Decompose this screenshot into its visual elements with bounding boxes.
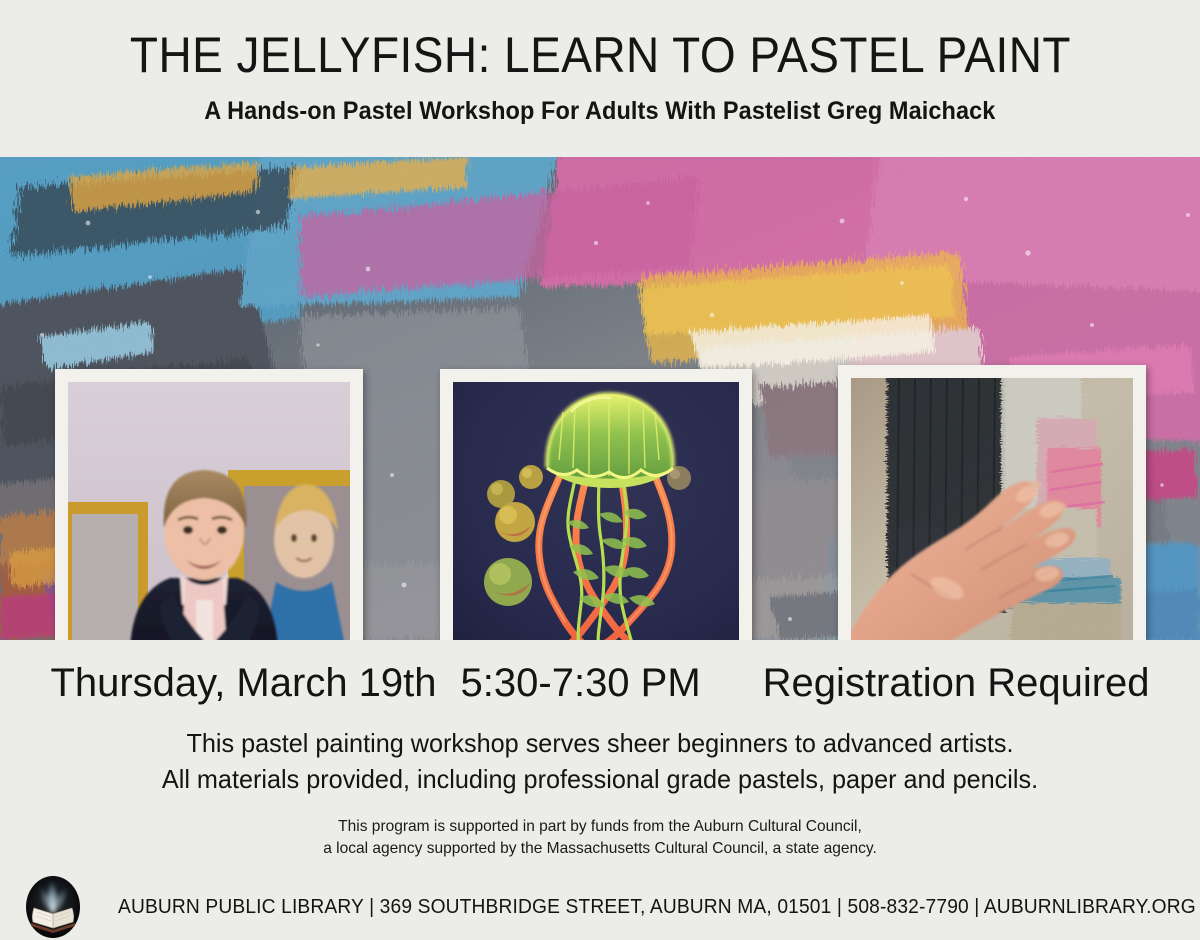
event-dateline: Thursday, March 19th5:30-7:30 PMRegistra… [0, 659, 1200, 707]
hand-blending-photo [851, 378, 1133, 640]
page-subtitle: A Hands-on Pastel Workshop For Adults Wi… [204, 96, 995, 126]
description-line-1: This pastel painting workshop serves she… [18, 725, 1182, 761]
photo-frame-hand [838, 365, 1146, 640]
instructor-portrait-photo [68, 382, 350, 640]
photo-frame-instructor [55, 369, 363, 640]
header: THE JELLYFISH: LEARN TO PASTEL PAINT A H… [0, 0, 1200, 157]
photo-frame-jellyfish [440, 369, 752, 640]
library-contact-line: AUBURN PUBLIC LIBRARY | 369 SOUTHBRIDGE … [118, 894, 1145, 920]
description-line-2: All materials provided, including profes… [18, 761, 1182, 797]
library-logo [12, 874, 94, 940]
event-date: Thursday, March 19th [50, 661, 436, 705]
page-title: THE JELLYFISH: LEARN TO PASTEL PAINT [129, 27, 1070, 83]
grant-line-2: a local agency supported by the Massachu… [18, 838, 1182, 860]
footer: AUBURN PUBLIC LIBRARY | 369 SOUTHBRIDGE … [0, 872, 1200, 932]
poster: THE JELLYFISH: LEARN TO PASTEL PAINT A H… [0, 0, 1200, 927]
grant-line-1: This program is supported in part by fun… [18, 816, 1182, 838]
artwork-band [0, 157, 1200, 640]
event-description: This pastel painting workshop serves she… [18, 725, 1182, 797]
event-details: Thursday, March 19th5:30-7:30 PMRegistra… [0, 640, 1200, 927]
registration-notice: Registration Required [763, 661, 1150, 705]
grant-credit: This program is supported in part by fun… [18, 816, 1182, 860]
event-time: 5:30-7:30 PM [461, 661, 701, 705]
jellyfish-artwork-photo [453, 382, 739, 640]
